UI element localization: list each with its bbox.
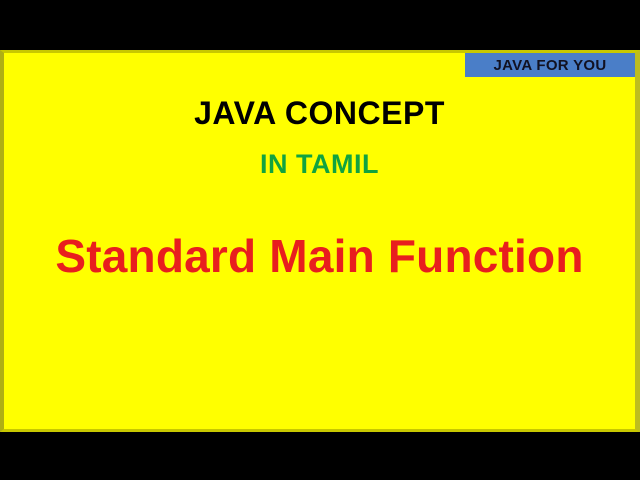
presentation-slide: JAVA FOR YOU JAVA CONCEPT IN TAMIL Stand… <box>0 50 640 432</box>
channel-watermark-badge: JAVA FOR YOU <box>465 53 635 77</box>
channel-watermark-label: JAVA FOR YOU <box>493 58 606 73</box>
slide-subtitle: IN TAMIL <box>4 151 635 178</box>
letterbox-bar-bottom <box>0 432 640 480</box>
slide-topic-heading: Standard Main Function <box>4 233 635 279</box>
slide-content: JAVA CONCEPT IN TAMIL Standard Main Func… <box>4 53 635 429</box>
letterbox-bar-top <box>0 0 640 50</box>
video-frame: JAVA FOR YOU JAVA CONCEPT IN TAMIL Stand… <box>0 0 640 480</box>
slide-title: JAVA CONCEPT <box>4 97 635 129</box>
